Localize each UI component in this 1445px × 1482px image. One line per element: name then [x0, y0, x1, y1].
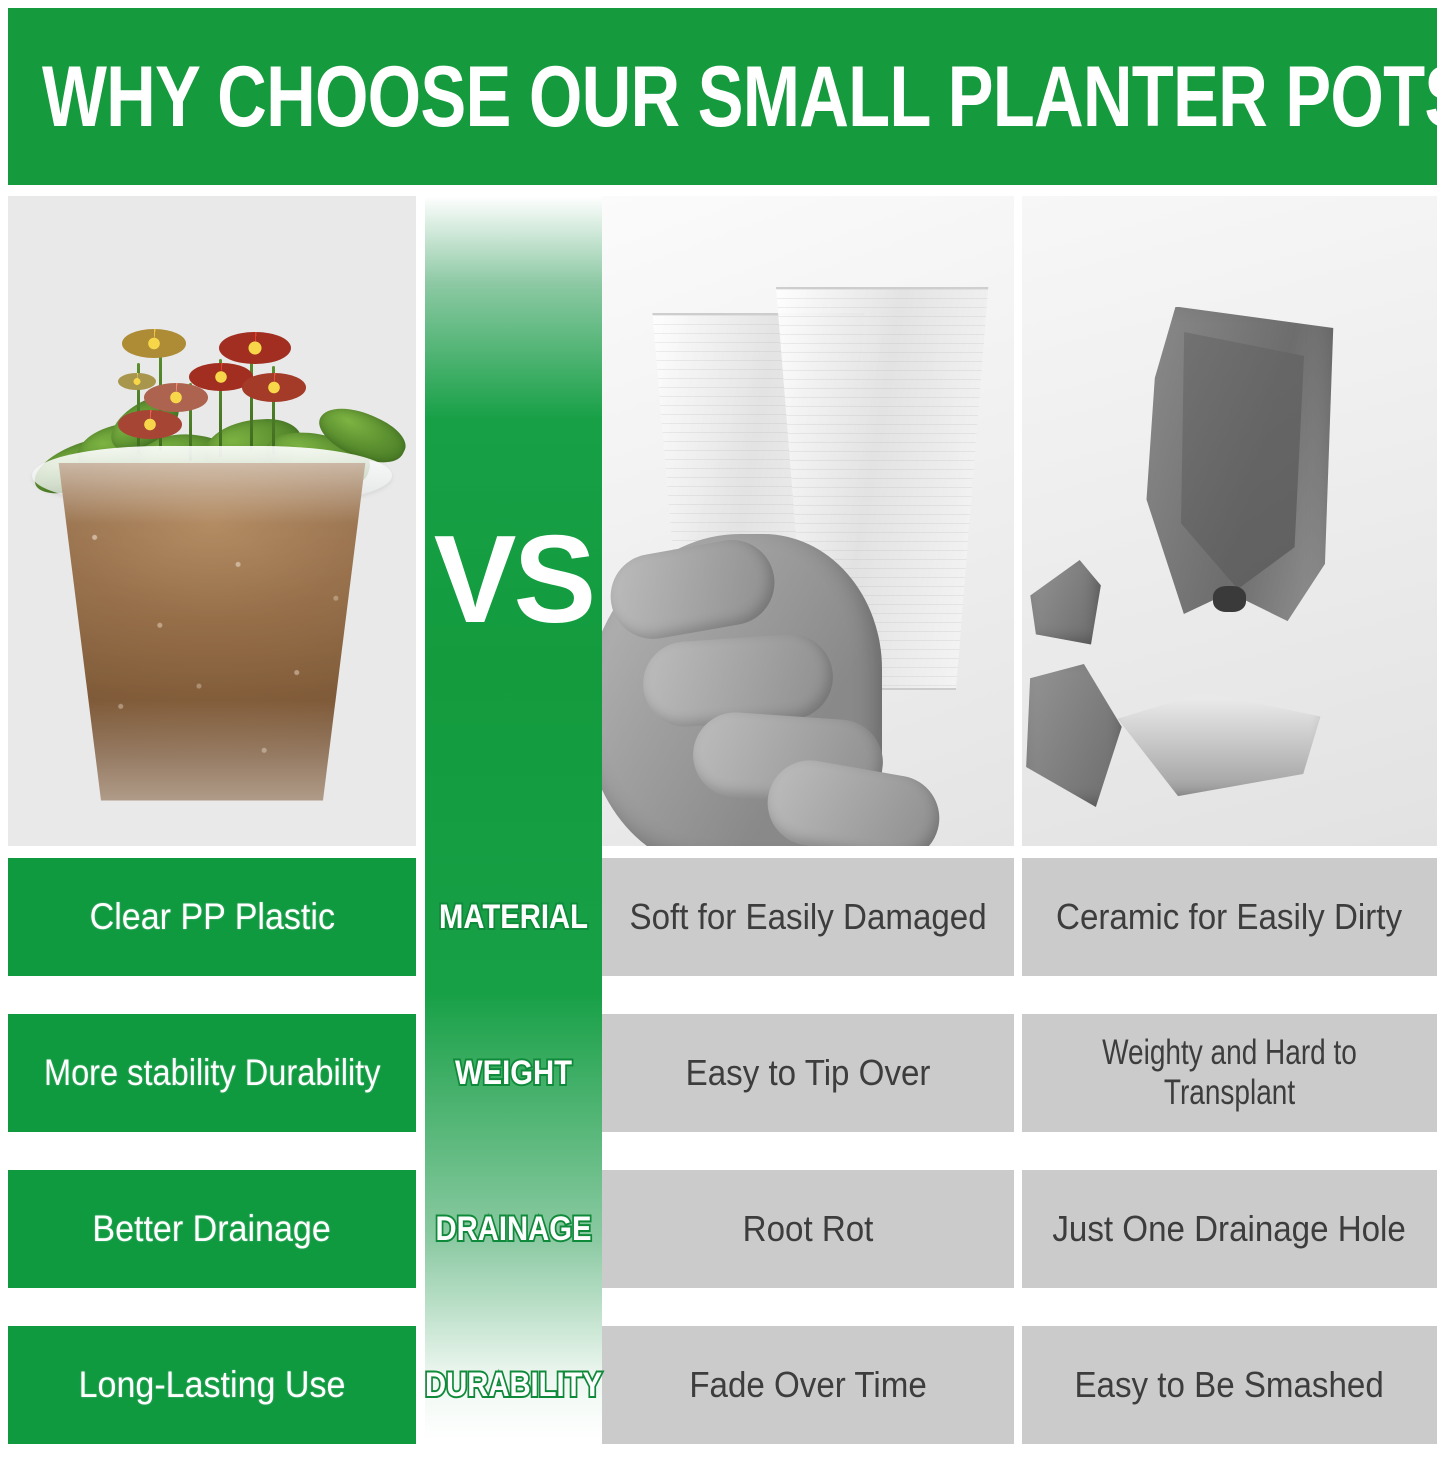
rival-a-cell-drainage: Root Rot — [602, 1170, 1014, 1288]
rival-b-cell-material: Ceramic for Easily Dirty — [1022, 858, 1437, 976]
rival-a-cell-durability: Fade Over Time — [602, 1326, 1014, 1444]
ours-cell-material: Clear PP Plastic — [8, 858, 416, 976]
soil-texture — [49, 463, 375, 801]
rival-b-cell-drainage: Just One Drainage Hole — [1022, 1170, 1437, 1288]
ours-cell-drainage: Better Drainage — [8, 1170, 416, 1288]
ours-value: More stability Durability — [44, 1052, 381, 1094]
rival-a-cell-weight: Easy to Tip Over — [602, 1014, 1014, 1132]
rival-a-value: Root Rot — [743, 1208, 874, 1250]
rival-a-value: Fade Over Time — [689, 1364, 926, 1406]
ceramic-shard — [1030, 560, 1101, 645]
header-banner: WHY CHOOSE OUR SMALL PLANTER POTS? — [8, 8, 1437, 185]
broken-ceramic-pot-photo — [1022, 196, 1437, 846]
soil-residue — [1213, 586, 1246, 612]
rival-b-value: Just One Drainage Hole — [1053, 1208, 1406, 1250]
ours-value: Clear PP Plastic — [89, 896, 334, 938]
photo-row — [0, 196, 1445, 846]
pot-body-with-soil — [49, 463, 375, 801]
table-row: Long-Lasting Use DURABILITY Fade Over Ti… — [0, 1326, 1445, 1444]
rival-b-value: Easy to Be Smashed — [1075, 1364, 1384, 1406]
rival-a-cell-material: Soft for Easily Damaged — [602, 858, 1014, 976]
rival-a-value: Soft for Easily Damaged — [629, 896, 986, 938]
ceramic-shard — [1026, 664, 1126, 807]
table-row: More stability Durability WEIGHT Easy to… — [0, 1014, 1445, 1132]
category-label-material: MATERIAL — [437, 858, 589, 976]
vs-label: VS — [425, 518, 602, 642]
flower — [122, 329, 186, 358]
category-label-durability: DURABILITY — [437, 1326, 589, 1444]
table-row: Better Drainage DRAINAGE Root Rot Just O… — [0, 1170, 1445, 1288]
category-label-weight: WEIGHT — [437, 1014, 589, 1132]
rival-b-value: Weighty and Hard to Transplant — [1072, 1033, 1388, 1113]
finger — [761, 754, 946, 846]
rival-b-value: Ceramic for Easily Dirty — [1057, 896, 1403, 938]
rival-b-cell-weight: Weighty and Hard to Transplant — [1022, 1014, 1437, 1132]
our-clear-planter-pot-photo — [8, 196, 416, 846]
flower — [118, 410, 182, 439]
ours-cell-weight: More stability Durability — [8, 1014, 416, 1132]
flower — [242, 373, 306, 402]
comparison-table: Clear PP Plastic MATERIAL Soft for Easil… — [0, 858, 1445, 1482]
ours-cell-durability: Long-Lasting Use — [8, 1326, 416, 1444]
pot-scene — [8, 196, 416, 846]
thin-plastic-pots-photo — [602, 196, 1014, 846]
page-title: WHY CHOOSE OUR SMALL PLANTER POTS? — [42, 54, 1445, 140]
category-label-drainage: DRAINAGE — [437, 1170, 589, 1288]
broken-pot-scene — [1022, 196, 1437, 846]
rival-b-cell-durability: Easy to Be Smashed — [1022, 1326, 1437, 1444]
page-title-text: WHY CHOOSE OUR SMALL PLANTER POTS — [42, 49, 1445, 145]
table-row: Clear PP Plastic MATERIAL Soft for Easil… — [0, 858, 1445, 976]
ours-value: Better Drainage — [93, 1208, 331, 1250]
rival-a-value: Easy to Tip Over — [686, 1052, 931, 1094]
flower — [219, 332, 290, 364]
thin-pots-scene — [602, 196, 1014, 846]
ours-value: Long-Lasting Use — [79, 1364, 346, 1406]
ceramic-shard — [1113, 690, 1329, 801]
